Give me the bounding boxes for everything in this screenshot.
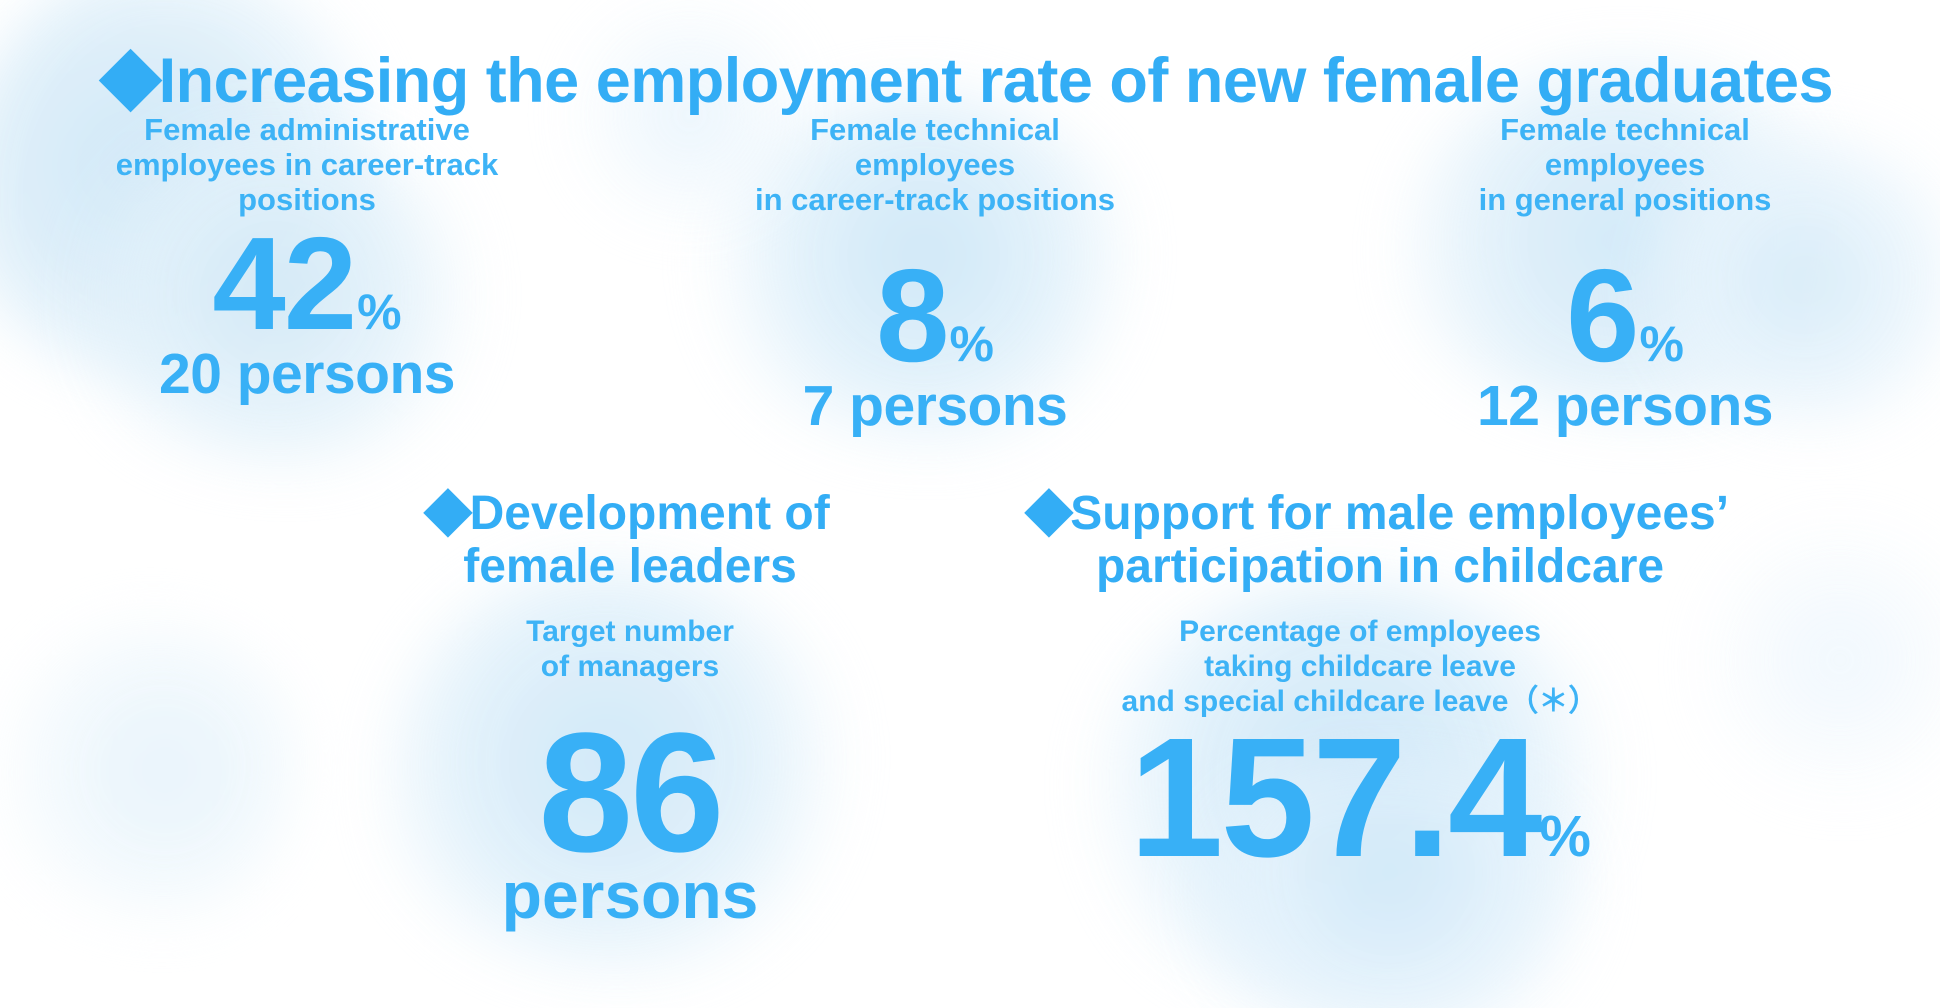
diamond-bullet-icon [98,48,162,112]
stat-value: 6 [1566,242,1637,389]
stat-value: 8 [876,242,947,389]
diamond-bullet-icon [1024,488,1073,537]
stat-count: 20 persons [22,346,592,403]
infographic-canvas: Increasing the employment rate of new fe… [0,0,1940,1008]
section-title-text: Increasing the employment rate of new fe… [159,46,1834,116]
section-title-text: Development offemale leaders [463,487,829,593]
stat-value-group: 6% [1320,253,1930,378]
section-title-female-leaders: Development offemale leaders [330,488,930,594]
stat-unit: % [949,316,993,372]
stat-label: Female technicalemployeesin general posi… [1320,112,1930,217]
stat-card-technical-general: Female technicalemployeesin general posi… [1320,112,1930,435]
big-unit: persons [420,865,840,926]
stat-card-technical-career-track: Female technicalemployeesin career-track… [640,112,1230,435]
stat-label: Female technicalemployeesin career-track… [640,112,1230,217]
sub-label-target-managers: Target numberof managers [430,615,830,685]
stat-value-group: 8% [640,253,1230,378]
big-value: 157.4 [1129,703,1539,893]
stat-value: 42 [212,210,355,357]
big-value-group-female-leaders: 86 persons [420,715,840,926]
section-title-male-childcare: Support for male employees’participation… [940,488,1820,594]
stat-count: 12 persons [1320,378,1930,435]
big-unit: % [1539,804,1591,869]
stat-unit: % [1639,316,1683,372]
stat-card-administrative-career-track: Female administrativeemployees in career… [22,112,592,403]
section-title-employment-rate: Increasing the employment rate of new fe… [0,48,1940,114]
stat-value-group: 42% [22,221,592,346]
infographic-content: Increasing the employment rate of new fe… [0,0,1940,1008]
diamond-bullet-icon [424,488,473,537]
section-title-text: Support for male employees’participation… [1070,487,1729,593]
stat-label: Female administrativeemployees in career… [22,112,592,217]
stat-count: 7 persons [640,378,1230,435]
stat-unit: % [357,284,401,340]
big-value-group-childcare: 157.4% [1030,720,1690,876]
